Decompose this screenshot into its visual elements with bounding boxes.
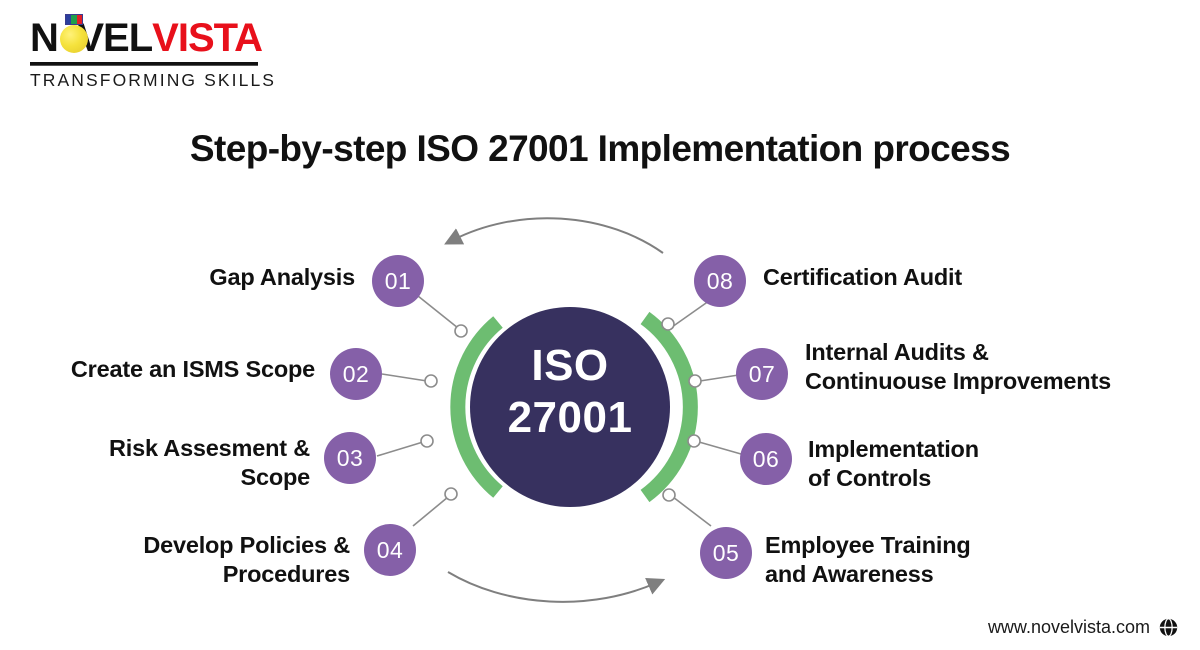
process-diagram: ISO 27001 01 02 03 04 05 06 07 08 Gap An…: [0, 0, 1200, 650]
step-badge-05[interactable]: 05: [700, 527, 752, 579]
step-label-07: Internal Audits & Continuouse Improvemen…: [805, 338, 1180, 396]
step-label-02: Create an ISMS Scope: [20, 355, 315, 384]
footer: www.novelvista.com: [988, 617, 1178, 638]
hub-label-line1: ISO: [470, 340, 670, 392]
step-label-01: Gap Analysis: [110, 263, 355, 292]
step-label-03: Risk Assesment & Scope: [60, 434, 310, 492]
step-badge-01[interactable]: 01: [372, 255, 424, 307]
step-badge-03[interactable]: 03: [324, 432, 376, 484]
step-label-06: Implementation of Controls: [808, 435, 1088, 493]
step-badge-02[interactable]: 02: [330, 348, 382, 400]
hub-label: ISO 27001: [470, 340, 670, 444]
flow-arrow-bottom: [448, 572, 656, 602]
step-badge-07[interactable]: 07: [736, 348, 788, 400]
step-label-04: Develop Policies & Procedures: [100, 531, 350, 589]
step-badge-08[interactable]: 08: [694, 255, 746, 307]
step-label-08: Certification Audit: [763, 263, 1063, 292]
hub-label-line2: 27001: [470, 392, 670, 444]
step-badge-04[interactable]: 04: [364, 524, 416, 576]
step-label-05: Employee Training and Awareness: [765, 531, 1065, 589]
step-badge-06[interactable]: 06: [740, 433, 792, 485]
website-url[interactable]: www.novelvista.com: [988, 617, 1150, 638]
infographic-page: N VEL VISTA TRANSFORMING SKILLS Step-by-…: [0, 0, 1200, 650]
globe-icon: [1159, 618, 1178, 637]
flow-arrow-top: [453, 218, 663, 253]
